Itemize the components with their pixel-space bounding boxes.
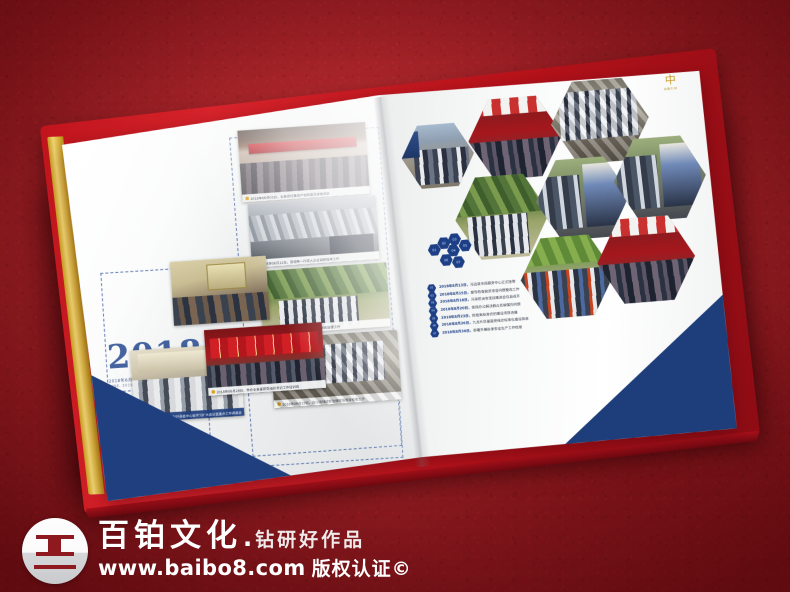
timeline-date: 2018年8月30日，: [442, 328, 473, 334]
gold-emblem: 中 党建引领: [652, 73, 688, 100]
left-page[interactable]: 2018 2018年6月—2018年8月大事记 JUNE, 2018—AUGUS…: [57, 95, 423, 502]
photo-conference-red-banner[interactable]: 2018年06月05日，全县农村集体产权制度改革推进会: [237, 122, 370, 203]
timeline-date: 2018年8月23日，: [441, 313, 472, 319]
brand-separator: .: [243, 524, 252, 552]
baibo-seal-logo: [22, 518, 88, 584]
hex-badge[interactable]: 05: [458, 239, 472, 252]
brand-name: 百铂文化: [98, 521, 242, 553]
timeline-date: 2018年8月18日，: [440, 298, 471, 304]
timeline-list: 01 2018年8月13日，马边县市场服务中心正式挂牌 02 2018年8月15…: [427, 278, 530, 338]
timeline-bullet: 07: [430, 329, 440, 338]
book-spread: 2018 2018年6月—2018年8月大事记 JUNE, 2018—AUGUS…: [57, 58, 745, 502]
copyright-badge: 版权认证©: [312, 554, 412, 581]
screenshot-root: 2018 2018年6月—2018年8月大事记 JUNE, 2018—AUGUS…: [0, 0, 790, 592]
timeline-date: 2018年8月26日，: [442, 321, 473, 327]
hex-photo-street-inspection[interactable]: [398, 120, 477, 192]
timeline-date: 2018年8月13日，: [439, 283, 470, 289]
watermark-bar: 百铂文化 . 钻研好作品 www.baibo8.com 版权认证©: [22, 518, 412, 584]
right-page[interactable]: 中 党建引领 01 02 03 04 05: [380, 58, 746, 465]
photo-factory-inspection[interactable]: 2018年06月12日，县领导一行深入企业调研指导工作: [248, 195, 380, 268]
photo-party-congress-hall[interactable]: 2018年06月28日，举办全县基层党组织书记工作培训班: [204, 322, 326, 396]
watermark-text-block: 百铂文化 . 钻研好作品 www.baibo8.com 版权认证©: [98, 521, 412, 582]
hex-badge-cluster: 01 02 03 04 05 06 07: [427, 231, 484, 275]
photo-office-discussion[interactable]: [170, 256, 270, 326]
timeline-date: 2018年8月15日，: [439, 291, 470, 297]
hex-badge[interactable]: 07: [451, 256, 465, 269]
timeline-date: 2018年8月20日，: [441, 306, 472, 312]
timeline-text: 部署开展秋季安全生产工作检查: [473, 325, 522, 332]
brand-url: www.baibo8.com: [98, 556, 306, 580]
photo-album-book[interactable]: 2018 2018年6月—2018年8月大事记 JUNE, 2018—AUGUS…: [40, 48, 760, 514]
brand-slogan: 钻研好作品: [255, 525, 365, 552]
